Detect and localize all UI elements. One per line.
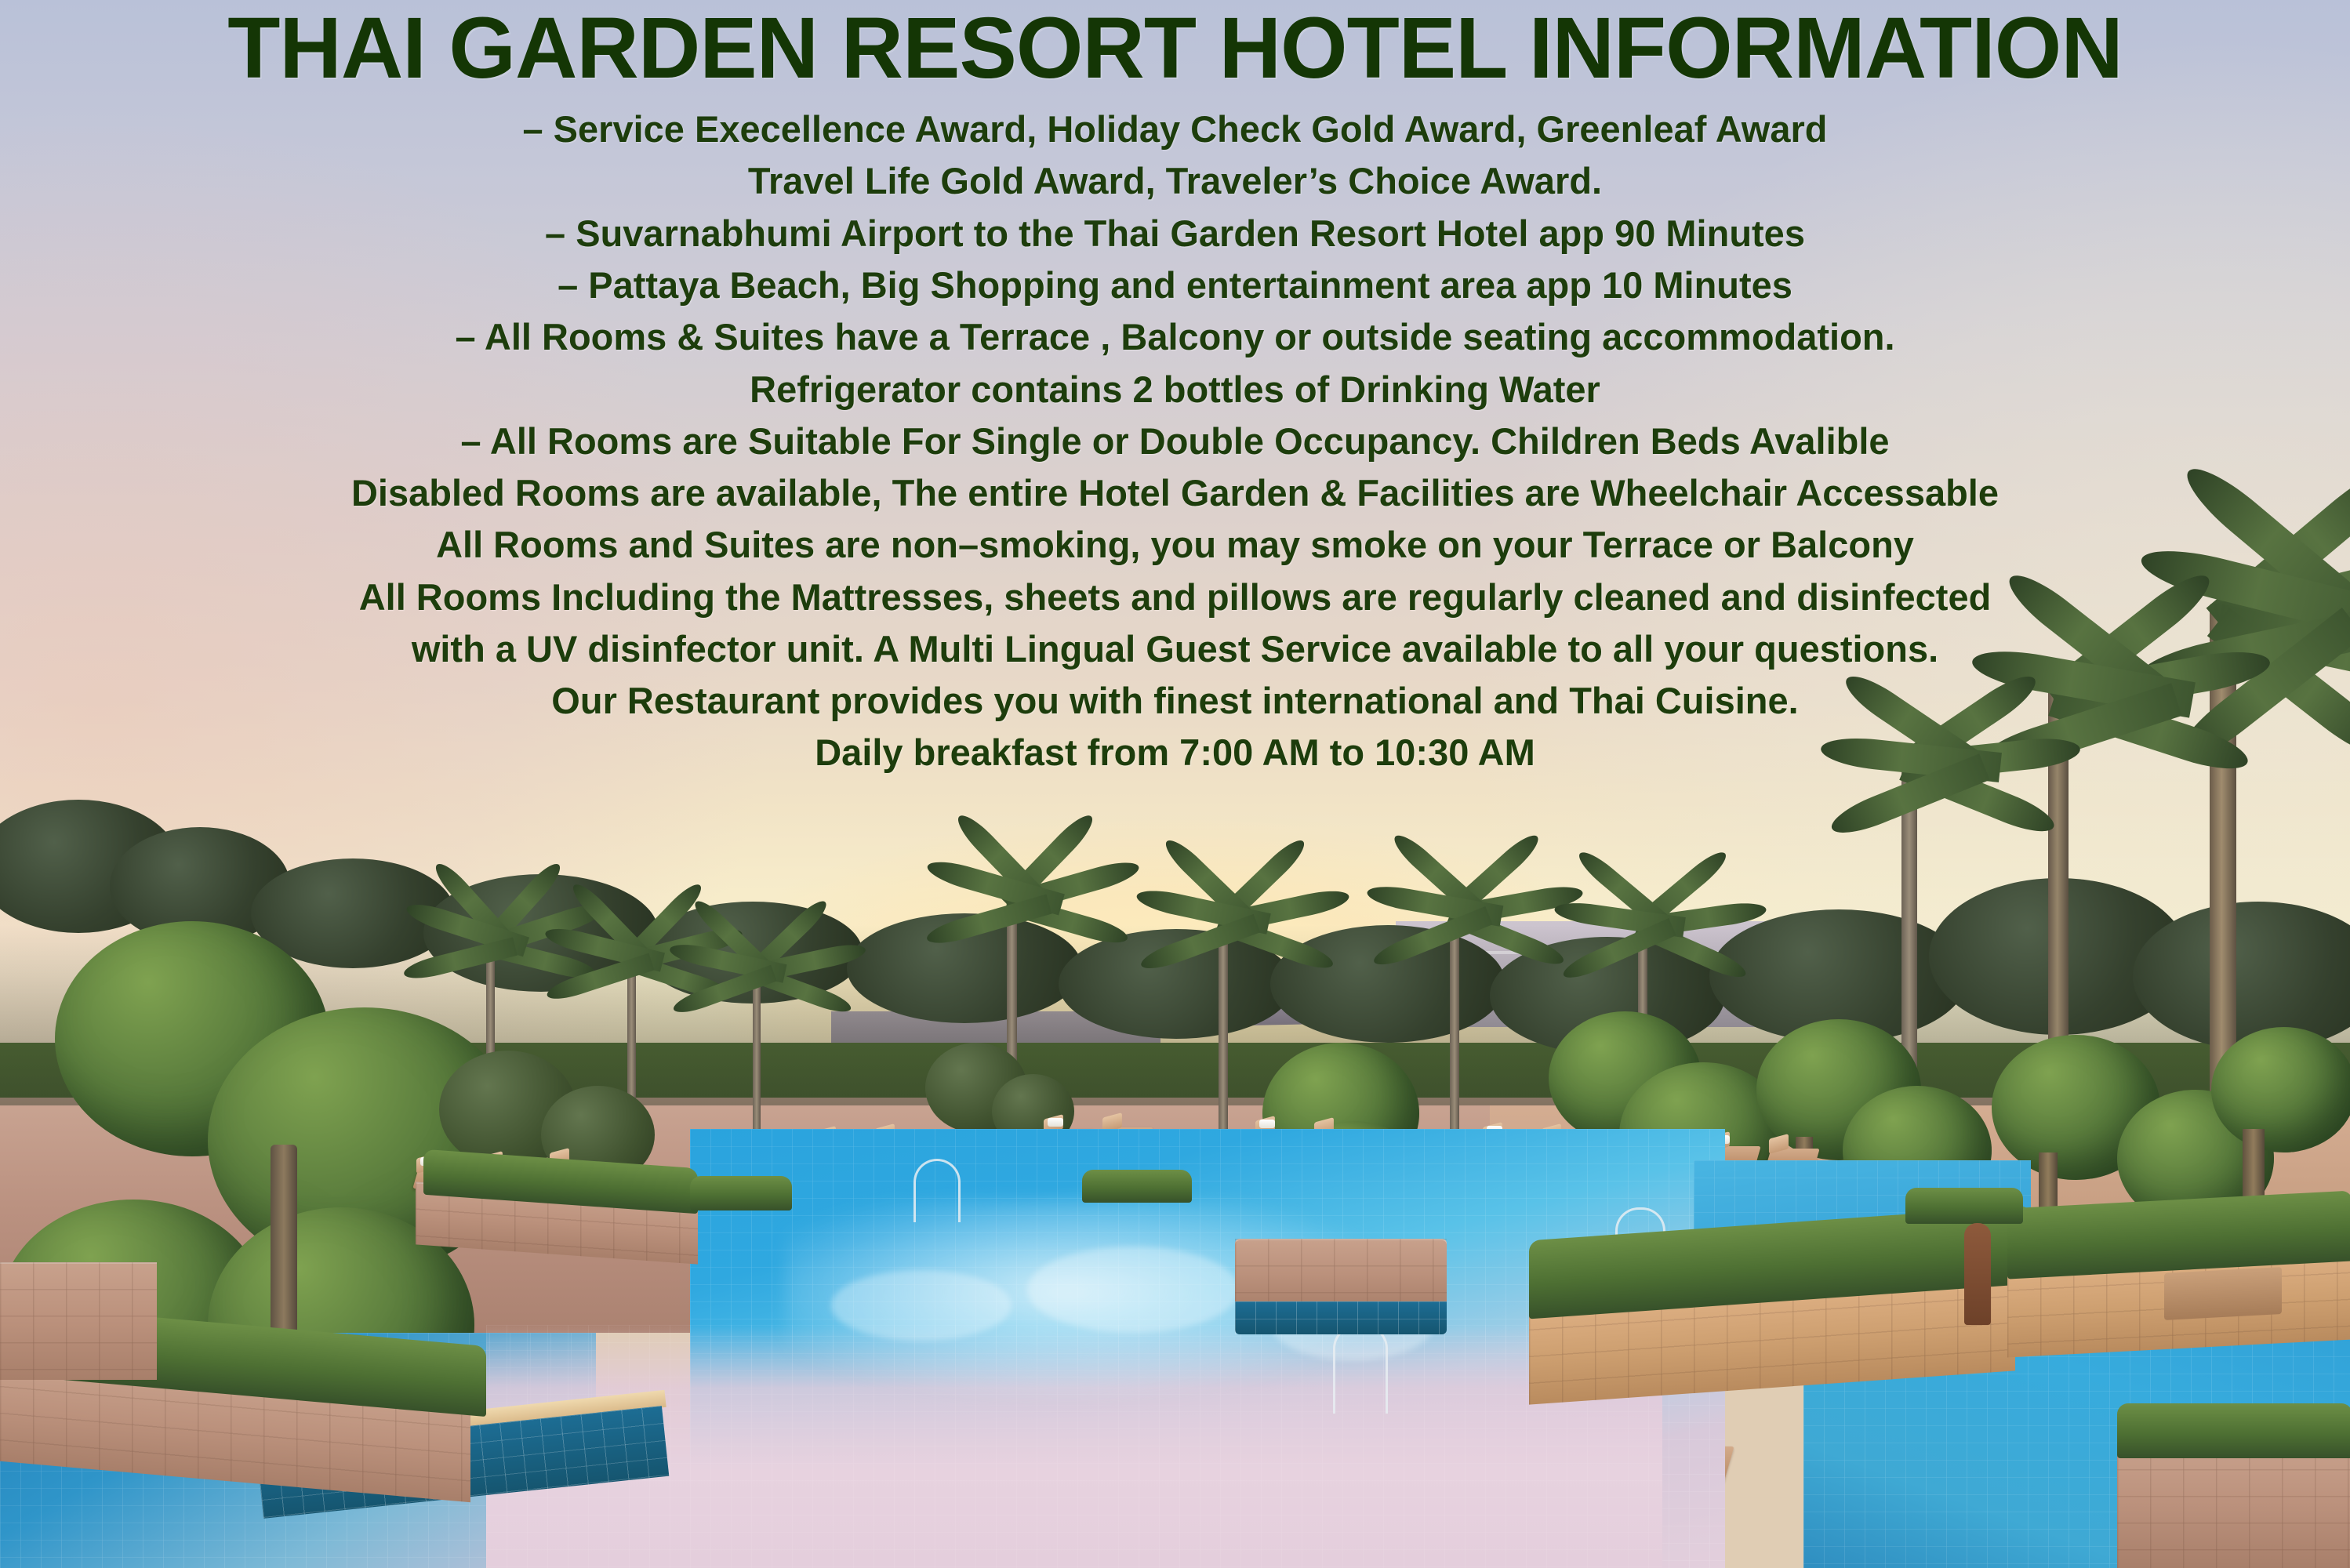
info-line: – Pattaya Beach, Big Shopping and entert… [0, 260, 2350, 311]
information-list: – Service Execellence Award, Holiday Che… [0, 103, 2350, 779]
poster-image: THAI GARDEN RESORT HOTEL INFORMATION – S… [0, 0, 2350, 1568]
info-line: All Rooms Including the Mattresses, shee… [0, 572, 2350, 623]
bush-accent [690, 1176, 792, 1210]
info-line: All Rooms and Suites are non–smoking, yo… [0, 519, 2350, 571]
garden-statue [1964, 1223, 1991, 1325]
palm-reflection [831, 1270, 1012, 1341]
info-line: Refrigerator contains 2 bottles of Drink… [0, 364, 2350, 416]
planter-island-center [1235, 1239, 1447, 1309]
info-line: – All Rooms & Suites have a Terrace , Ba… [0, 311, 2350, 363]
info-line: Daily breakfast from 7:00 AM to 10:30 AM [0, 727, 2350, 779]
info-line: – Service Execellence Award, Holiday Che… [0, 103, 2350, 155]
page-title: THAI GARDEN RESORT HOTEL INFORMATION [0, 5, 2350, 93]
planter-island-tile [1235, 1301, 1447, 1334]
bush-accent [1905, 1188, 2023, 1224]
info-line: – All Rooms are Suitable For Single or D… [0, 416, 2350, 467]
palm-reflection [1027, 1247, 1239, 1333]
planter-wall-bottom-right [2117, 1443, 2350, 1568]
topiary-ball-right [2211, 1027, 2350, 1152]
info-line: Our Restaurant provides you with finest … [0, 675, 2350, 727]
lounger-towel [1259, 1120, 1275, 1128]
info-line: Disabled Rooms are available, The entire… [0, 467, 2350, 519]
info-line: with a UV disinfector unit. A Multi Ling… [0, 623, 2350, 675]
planter-wall-left-back [0, 1262, 157, 1380]
pool-ladder [913, 1159, 961, 1222]
pool-tile-grid [1235, 1301, 1447, 1334]
info-line: – Suvarnabhumi Airport to the Thai Garde… [0, 208, 2350, 260]
hedge-bottom-right [2117, 1403, 2350, 1458]
pool-ladder [1333, 1325, 1388, 1414]
info-line: Travel Life Gold Award, Traveler’s Choic… [0, 155, 2350, 207]
text-overlay: THAI GARDEN RESORT HOTEL INFORMATION – S… [0, 0, 2350, 779]
bush-accent [1082, 1170, 1192, 1203]
lounger-towel [1048, 1118, 1063, 1127]
garden-bench [2164, 1267, 2282, 1320]
far-tree [1270, 925, 1506, 1043]
